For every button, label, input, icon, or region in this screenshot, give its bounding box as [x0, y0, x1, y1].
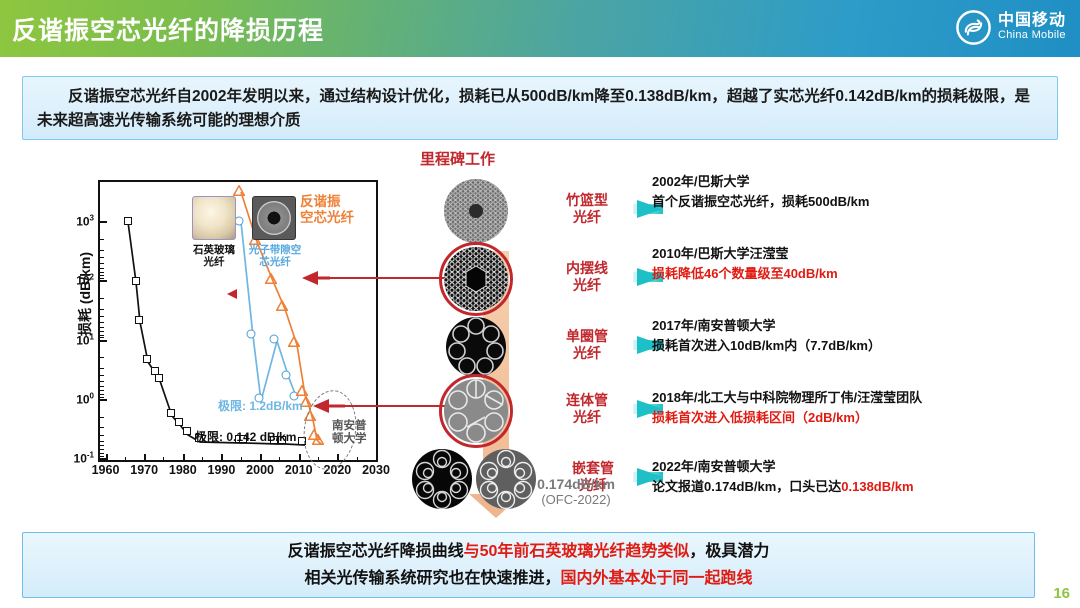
conclusion-line-1: 反谐振空芯光纤降损曲线与50年前石英玻璃光纤趋势类似，极具潜力 — [288, 538, 770, 565]
milestone-sub: 首个反谐振空芯光纤，损耗500dB/km — [652, 192, 1072, 212]
milestone-item: 2010年/巴斯大学汪滢莹 损耗降低46个数量级至40dB/km — [652, 244, 1072, 283]
x-tick-1960: 1960 — [92, 463, 120, 477]
hypocycloid-fiber-cross-section-icon — [443, 246, 509, 312]
page-title: 反谐振空芯光纤的降损历程 — [12, 11, 324, 47]
pbg-fiber-photo — [252, 196, 296, 240]
x-tick-2030: 2030 — [362, 463, 390, 477]
kagome-fiber-cross-section-icon — [443, 178, 509, 244]
milestone-head: 2010年/巴斯大学汪滢莹 — [652, 244, 1072, 264]
milestone-head: 2002年/巴斯大学 — [652, 172, 1072, 192]
x-tick-1980: 1980 — [169, 463, 197, 477]
pbg-point — [282, 371, 291, 380]
milestone-item: 2002年/巴斯大学 首个反谐振空芯光纤，损耗500dB/km — [652, 172, 1072, 211]
silica-point — [135, 316, 143, 324]
main-content: 损耗 (dB/km) 103 102 101 100 10-1 — [0, 146, 1080, 531]
fiber-row: 内摆线光纤 — [415, 246, 665, 314]
conclusion-l1-post: ，极具潜力 — [689, 543, 769, 560]
summary-text: 反谐振空芯光纤自2002年发明以来，通过结构设计优化，损耗已从500dB/km降… — [37, 85, 1043, 133]
pbg-point — [270, 334, 279, 343]
milestone-sub: 损耗降低46个数量级至40dB/km — [652, 264, 1072, 284]
arhcf-point — [265, 271, 277, 289]
silica-point — [143, 355, 151, 363]
conclusion-l2-highlight: 国内外基本处于同一起跑线 — [561, 570, 753, 587]
fiber-label: 竹篮型光纤 — [545, 192, 629, 226]
fiber-label: 连体管光纤 — [545, 392, 629, 426]
x-tick-1990: 1990 — [208, 463, 236, 477]
logo-text-cn: 中国移动 — [998, 13, 1066, 30]
silica-point — [183, 427, 191, 435]
silica-point — [124, 217, 132, 225]
milestone-head: 2018年/北工大与中科院物理所丁伟/汪滢莹团队 — [652, 388, 1072, 408]
conclusion-l1-highlight: 与50年前石英玻璃光纤趋势类似 — [464, 543, 690, 560]
arhcf-point — [288, 334, 300, 352]
fiber-label: 单圈管光纤 — [545, 328, 629, 362]
loss-history-chart: 损耗 (dB/km) 103 102 101 100 10-1 — [36, 174, 386, 496]
southampton-cluster-label: 南安普顿大学 — [332, 420, 374, 445]
y-tick-3: 103 — [76, 214, 94, 229]
x-tick-1970: 1970 — [130, 463, 158, 477]
silica-point — [175, 418, 183, 426]
silica-point — [155, 374, 163, 382]
silica-limit-annotation: 极限: 0.142 dB/km — [195, 428, 296, 445]
milestone-sub-pre: 论文报道0.174dB/km，口头已达 — [652, 479, 841, 494]
page-number: 16 — [1053, 585, 1070, 602]
nested-tube-fiber-cross-section-icon — [411, 448, 473, 510]
pbg-point — [246, 329, 255, 338]
brand-logo: 中国移动 China Mobile — [956, 10, 1066, 45]
conclusion-callout: 反谐振空芯光纤降损曲线与50年前石英玻璃光纤趋势类似，极具潜力 相关光传输系统研… — [22, 532, 1035, 598]
x-tick-2010: 2010 — [285, 463, 313, 477]
fiber-row: 竹篮型光纤 — [415, 178, 665, 246]
fiber-row: 单圈管光纤 — [415, 314, 665, 382]
y-tick-1: 101 — [76, 332, 94, 347]
ofc-record-note: 0.174dB/km (OFC-2022) — [516, 476, 636, 507]
milestone-column-title: 里程碑工作 — [420, 148, 495, 169]
summary-callout: 反谐振空芯光纤自2002年发明以来，通过结构设计优化，损耗已从500dB/km降… — [22, 76, 1058, 140]
chart-plot-area: 103 102 101 100 10-1 — [98, 180, 378, 462]
milestone-sub: 损耗首次进入低损耗区间（2dB/km） — [652, 408, 1072, 428]
logo-text-en: China Mobile — [998, 30, 1066, 42]
conclusion-l2-pre: 相关光传输系统研究也在快速推进， — [304, 570, 560, 587]
silica-inset-caption: 石英玻璃光纤 — [188, 244, 240, 268]
conclusion-line-2: 相关光传输系统研究也在快速推进，国内外基本处于同一起跑线 — [304, 565, 752, 592]
conclusion-l1-pre: 反谐振空芯光纤降损曲线 — [288, 543, 464, 560]
silica-point — [132, 277, 140, 285]
pbg-inset-caption: 光子带隙空芯光纤 — [246, 244, 304, 268]
arhcf-point — [276, 298, 288, 316]
ofc-record-value: 0.174dB/km — [516, 476, 636, 492]
slide-header: 反谐振空芯光纤的降损历程 中国移动 China Mobile — [0, 0, 1080, 57]
milestone-head: 2022年/南安普顿大学 — [652, 457, 1072, 477]
fiber-label: 内摆线光纤 — [545, 260, 629, 294]
milestone-item: 2017年/南安普顿大学 损耗首次进入10dB/km内（7.7dB/km） — [652, 316, 1072, 355]
silica-point — [167, 409, 175, 417]
fiber-row: 连体管光纤 — [415, 378, 665, 446]
x-tick-2000: 2000 — [246, 463, 274, 477]
china-mobile-logo-icon — [956, 10, 991, 45]
milestone-head: 2017年/南安普顿大学 — [652, 316, 1072, 336]
silica-fiber-photo — [192, 196, 236, 240]
pbg-limit-annotation: 极限: 1.2dB/km — [218, 397, 303, 414]
conjoined-tube-fiber-cross-section-icon — [443, 378, 509, 444]
milestone-sub-highlight: 0.138dB/km — [841, 479, 913, 494]
milestone-sub: 论文报道0.174dB/km，口头已达0.138dB/km — [652, 477, 1072, 497]
milestone-sub: 损耗首次进入10dB/km内（7.7dB/km） — [652, 336, 1072, 356]
ofc-record-source: (OFC-2022) — [516, 492, 636, 507]
y-tick-2: 102 — [76, 273, 94, 288]
single-ring-tube-fiber-cross-section-icon — [445, 316, 507, 378]
milestone-item: 2018年/北工大与中科院物理所丁伟/汪滢莹团队 损耗首次进入低损耗区间（2dB… — [652, 388, 1072, 427]
arhcf-series-title: 反谐振空芯光纤 — [300, 194, 395, 226]
milestone-item: 2022年/南安普顿大学 论文报道0.174dB/km，口头已达0.138dB/… — [652, 457, 1072, 496]
y-tick-0: 100 — [76, 391, 94, 406]
